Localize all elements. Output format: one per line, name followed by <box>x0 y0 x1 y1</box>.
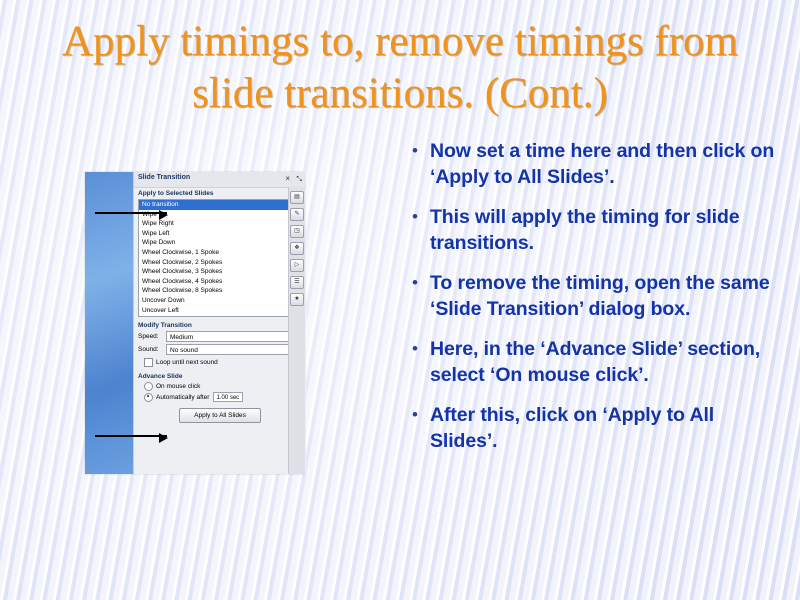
loop-checkbox-row[interactable]: Loop until next sound <box>134 356 306 367</box>
speed-row: Speed: Medium <box>134 330 306 343</box>
bullet-icon: • <box>408 402 430 428</box>
panel-title: Slide Transition <box>138 174 190 181</box>
bullet-text: To remove the timing, open the same ‘Sli… <box>430 270 778 322</box>
bullet-text: After this, click on ‘Apply to All Slide… <box>430 402 778 454</box>
bullet-list: • Now set a time here and then click on … <box>408 138 778 468</box>
list-item[interactable]: Wipe Down <box>139 238 301 248</box>
slide-canvas: Apply timings to, remove timings from sl… <box>0 0 800 600</box>
automatically-after-row[interactable]: Automatically after 1.00 sec <box>134 391 306 402</box>
automatically-after-label: Automatically after <box>156 394 209 401</box>
radio-icon-selected[interactable] <box>144 393 153 402</box>
on-mouse-click-label: On mouse click <box>156 383 200 390</box>
panel-header: Slide Transition × ⤡ <box>134 172 306 188</box>
annotation-arrow-automatically-after <box>95 435 167 437</box>
list-item[interactable]: Wipe Left <box>139 229 301 239</box>
speed-select[interactable]: Medium <box>166 331 302 342</box>
close-icon[interactable]: × <box>285 174 290 184</box>
list-item[interactable]: No transition <box>139 200 301 210</box>
bullet-icon: • <box>408 270 430 296</box>
speed-label: Speed: <box>138 333 166 340</box>
list-item: • After this, click on ‘Apply to All Sli… <box>408 402 778 454</box>
sound-label: Sound: <box>138 346 166 353</box>
bullet-text: Here, in the ‘Advance Slide’ section, se… <box>430 336 778 388</box>
list-item: • This will apply the timing for slide t… <box>408 204 778 256</box>
sound-select[interactable]: No sound <box>166 344 302 355</box>
loop-label: Loop until next sound <box>156 359 218 366</box>
section-advance-label: Advance Slide <box>134 371 306 381</box>
list-item[interactable]: Wipe Right <box>139 219 301 229</box>
checkbox-icon[interactable] <box>144 358 153 367</box>
list-item[interactable]: Wheel Clockwise, 1 Spoke <box>139 248 301 258</box>
slide-thumbnail-background <box>85 172 133 474</box>
outline-icon[interactable]: ☰ <box>290 276 304 289</box>
list-item[interactable]: Uncover Down <box>139 296 301 306</box>
page-title: Apply timings to, remove timings from sl… <box>20 16 780 121</box>
list-item: • Here, in the ‘Advance Slide’ section, … <box>408 336 778 388</box>
pin-icon[interactable]: ⤡ <box>296 175 302 184</box>
list-item[interactable]: Uncover Left <box>139 306 301 316</box>
color-scheme-icon[interactable]: ❖ <box>290 242 304 255</box>
sound-row: Sound: No sound <box>134 343 306 356</box>
bullet-text: This will apply the timing for slide tra… <box>430 204 778 256</box>
list-item[interactable]: Wheel Clockwise, 2 Spokes <box>139 258 301 268</box>
slide-transition-screenshot: Slide Transition × ⤡ Apply to Selected S… <box>85 172 305 474</box>
on-mouse-click-row[interactable]: On mouse click <box>134 381 306 391</box>
slideshow-icon[interactable]: ▷ <box>290 259 304 272</box>
annotation-arrow-transition-list <box>95 212 167 214</box>
bullet-icon: • <box>408 336 430 362</box>
list-item[interactable]: Wheel Clockwise, 8 Spokes <box>139 286 301 296</box>
time-stepper[interactable]: 1.00 sec <box>213 392 243 402</box>
layout-icon[interactable]: ▤ <box>290 191 304 204</box>
bullet-icon: • <box>408 138 430 164</box>
list-item: • Now set a time here and then click on … <box>408 138 778 190</box>
section-apply-label: Apply to Selected Slides <box>134 188 306 198</box>
animation-icon[interactable]: ◳ <box>290 225 304 238</box>
design-icon[interactable]: ✎ <box>290 208 304 221</box>
bullet-text: Now set a time here and then click on ‘A… <box>430 138 778 190</box>
apply-to-all-slides-button[interactable]: Apply to All Slides <box>179 408 261 423</box>
section-modify-label: Modify Transition <box>134 320 306 330</box>
bullet-icon: • <box>408 204 430 230</box>
list-item: • To remove the timing, open the same ‘S… <box>408 270 778 322</box>
radio-icon[interactable] <box>144 382 153 391</box>
list-item[interactable]: Wheel Clockwise, 3 Spokes <box>139 267 301 277</box>
favorites-icon[interactable]: ★ <box>290 293 304 306</box>
list-item[interactable]: Wheel Clockwise, 4 Spokes <box>139 277 301 287</box>
task-pane-icon-strip: ▤ ✎ ◳ ❖ ▷ ☰ ★ <box>288 187 305 474</box>
